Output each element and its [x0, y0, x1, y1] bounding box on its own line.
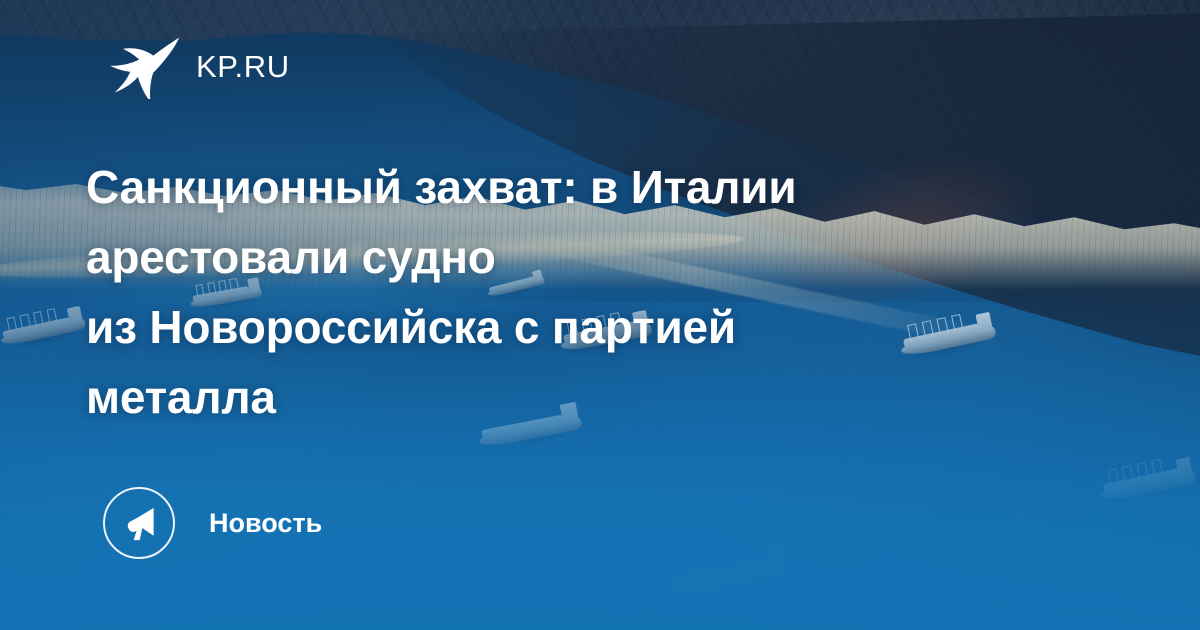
headline-title: Санкционный захват: в Италии арестовали … — [86, 152, 1086, 432]
headline-line-3: из Новороссийска с партией — [86, 292, 1086, 362]
megaphone-icon — [121, 505, 157, 541]
brand-wordmark: KP.RU — [196, 51, 290, 82]
social-share-card: KP.RU Санкционный захват: в Италии арест… — [0, 0, 1200, 630]
card-content: KP.RU Санкционный захват: в Италии арест… — [0, 0, 1200, 630]
rubric-tag[interactable]: Новость — [103, 487, 322, 559]
headline-line-2: арестовали судно — [86, 222, 1086, 292]
headline-line-1: Санкционный захват: в Италии — [86, 152, 1086, 222]
headline-line-4: металла — [86, 362, 1086, 432]
rubric-label: Новость — [209, 510, 322, 537]
rubric-badge-circle — [103, 487, 175, 559]
swallow-bird-icon — [110, 33, 182, 99]
brand-logo[interactable]: KP.RU — [110, 33, 290, 99]
